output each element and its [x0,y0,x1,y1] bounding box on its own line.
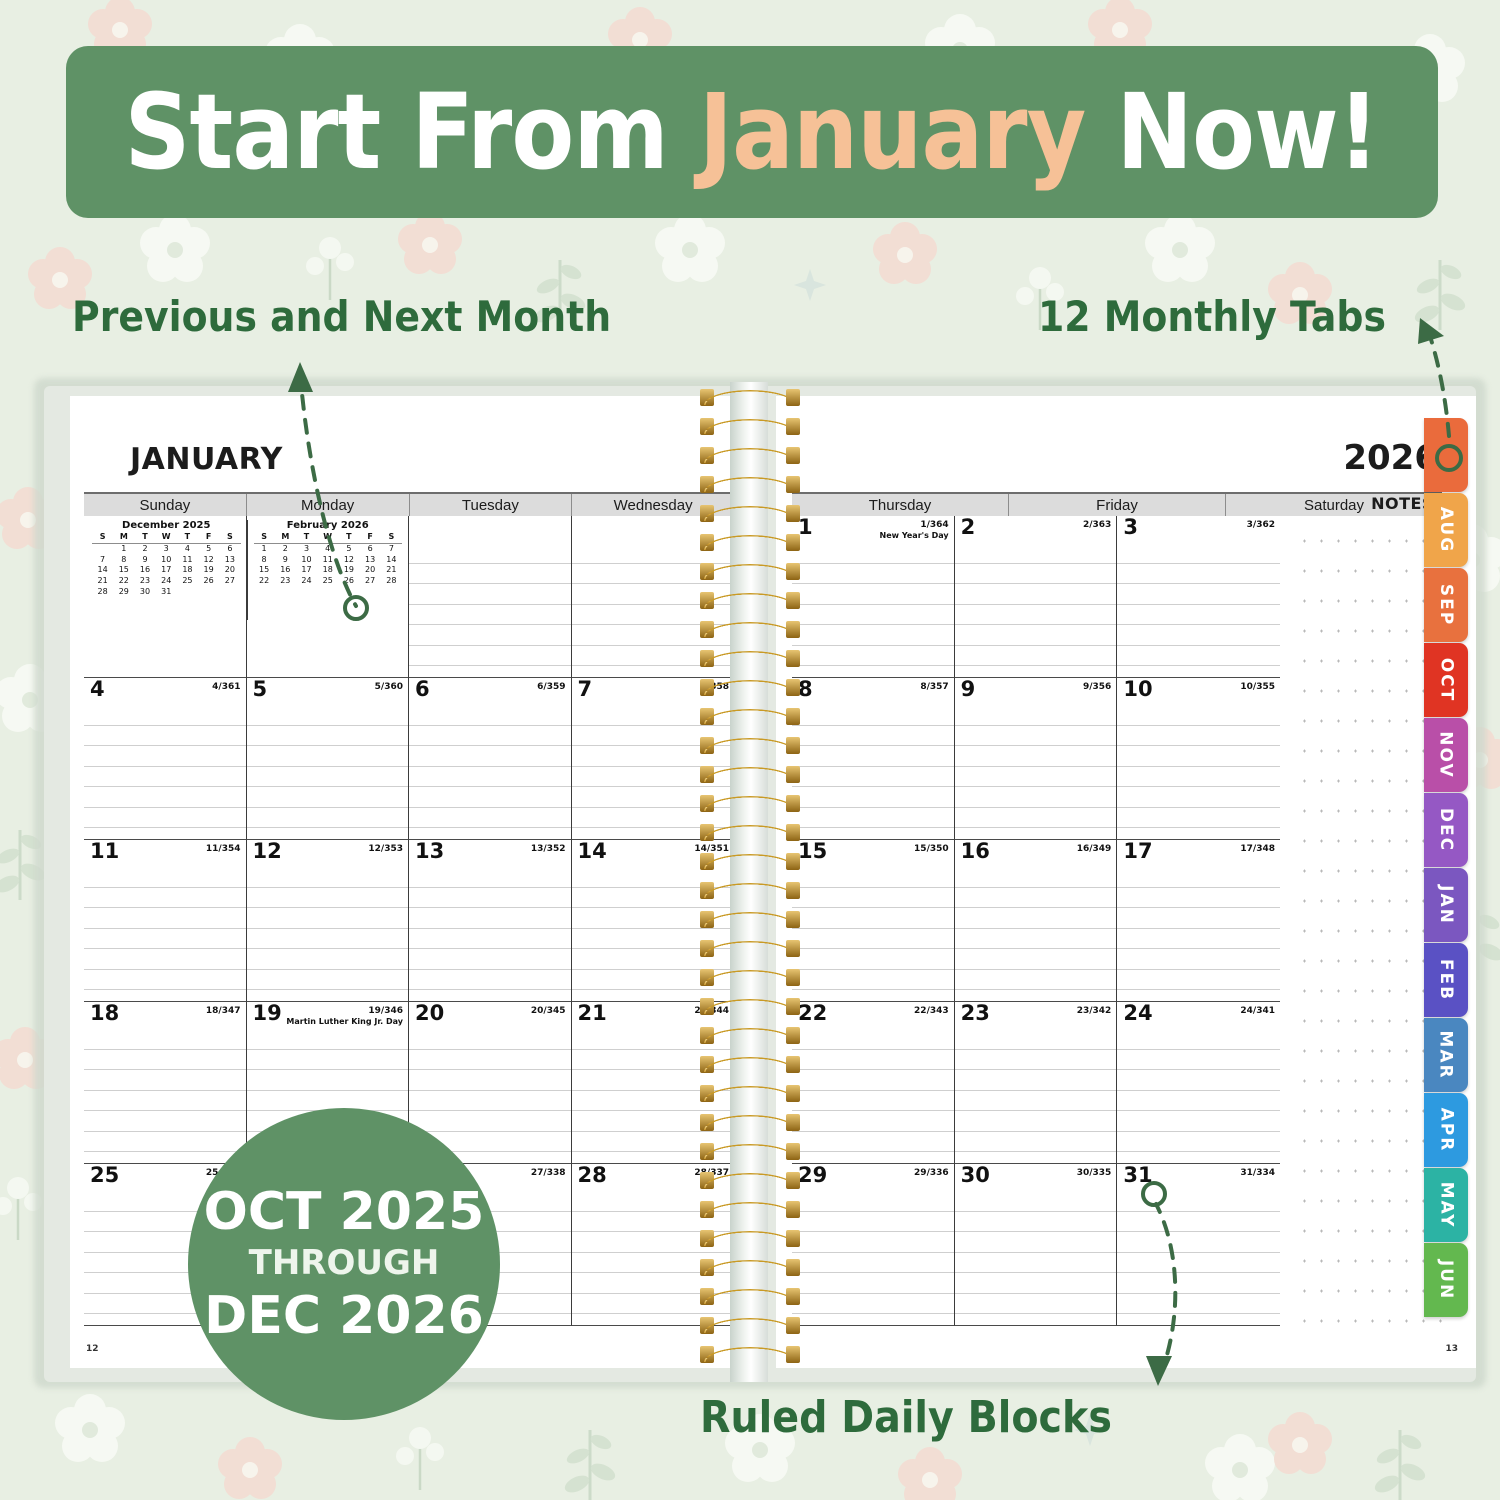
day-number: 20 [415,1003,444,1024]
day-of-year-counter: 22/343 [914,1006,949,1016]
day-of-year-counter: 20/345 [531,1006,566,1016]
coil-ring [704,448,796,463]
month-tab-mar[interactable]: MAR [1424,1018,1468,1092]
mini-weekday: F [198,532,219,543]
coil-ring [704,709,796,724]
mini-day: 23 [134,576,155,587]
coil-ring [704,883,796,898]
mini-calendar-table: SMTWTFS123456789101112131415161718192021… [254,532,403,587]
mini-week-row: 14151617181920 [92,565,241,576]
day-cell-8[interactable]: 88/357 [792,678,955,840]
weekday-header-left: SundayMondayTuesdayWednesday [84,492,734,516]
day-cell-15[interactable]: 1515/350 [792,840,955,1002]
spiral-coil [698,620,802,640]
mini-day: 15 [254,565,275,576]
coil-ring [704,1202,796,1217]
badge-line-2: THROUGH [249,1240,440,1288]
coil-ring [704,593,796,608]
month-tab-label: DEC [1436,808,1456,852]
mini-day: 6 [219,543,240,554]
spiral-coil [698,1200,802,1220]
ruled-lines [409,866,571,1001]
coil-cap-right [786,708,800,725]
month-tab-label: NOV [1436,731,1456,778]
ruled-lines [84,704,246,839]
day-number: 9 [961,679,976,700]
mini-weekday: T [296,532,317,543]
coil-ring [704,680,796,695]
mini-day: 4 [177,543,198,554]
ruled-lines [247,866,409,1001]
day-number: 11 [90,841,119,862]
day-number: 21 [578,1003,607,1024]
spiral-coil [698,910,802,930]
month-tab-jun[interactable]: JUN [1424,1243,1468,1317]
coil-cap-right [786,766,800,783]
ruled-lines [955,542,1117,677]
weekday-header-tuesday: Tuesday [410,494,573,516]
coil-cap-right [786,476,800,493]
day-number: 16 [961,841,990,862]
coil-cap-right [786,505,800,522]
month-tab-may[interactable]: MAY [1424,1168,1468,1242]
mini-day: 14 [381,555,402,566]
day-number: 25 [90,1165,119,1186]
month-tab-label: APR [1436,1108,1456,1153]
mini-day [92,543,113,554]
weekday-header-friday: Friday [1009,494,1226,516]
mini-day: 16 [275,565,296,576]
date-range-badge: OCT 2025 THROUGH DEC 2026 [188,1108,500,1420]
coil-ring [704,912,796,927]
day-cell-16[interactable]: 1616/349 [955,840,1118,1002]
day-of-year-counter: 2/363 [1083,520,1111,530]
coil-ring [704,1289,796,1304]
month-tab-label: AUG [1436,507,1456,553]
coil-ring [704,825,796,840]
day-cell-23[interactable]: 2323/342 [955,1002,1118,1164]
coil-ring [704,1318,796,1333]
month-tab-strip[interactable]: JULAUGSEPOCTNOVDECJANFEBMARAPRMAYJUN [1424,418,1472,1318]
month-tab-label: SEP [1436,584,1456,626]
page-number-right: 13 [1445,1344,1458,1354]
mini-day: 21 [381,565,402,576]
day-number: 18 [90,1003,119,1024]
mini-day: 9 [275,555,296,566]
headline-accent: January [699,71,1086,193]
spiral-coil [698,968,802,988]
coil-cap-right [786,911,800,928]
spiral-coil [698,1258,802,1278]
callout-monthly-tabs: 12 Monthly Tabs [1038,292,1386,341]
coil-cap-right [786,534,800,551]
month-tab-nov[interactable]: NOV [1424,718,1468,792]
mini-day: 20 [219,565,240,576]
mini-day: 17 [156,565,177,576]
day-cell-10[interactable]: 1010/355 [1117,678,1280,840]
holiday-label: New Year's Day [880,531,949,540]
day-of-year-counter: 12/353 [368,844,403,854]
mini-day: 16 [134,565,155,576]
mini-weekday: S [92,532,113,543]
mini-weekday: S [219,532,240,543]
day-cell-31[interactable]: 3131/334 [1117,1164,1280,1326]
mini-weekday: T [177,532,198,543]
coil-cap-right [786,1346,800,1363]
mini-day: 18 [177,565,198,576]
day-number: 24 [1123,1003,1152,1024]
mini-day: 10 [156,555,177,566]
spiral-coil [698,939,802,959]
mini-day: 29 [113,587,134,598]
spiral-binding [690,382,810,1382]
ruled-lines [955,1190,1117,1325]
coil-ring [704,854,796,869]
mini-day: 14 [92,565,113,576]
mini-calendar-next-month[interactable]: February 2026SMTWTFS12345678910111213141… [247,520,409,620]
spiral-coil [698,1084,802,1104]
coil-cap-right [786,824,800,841]
day-of-year-counter: 18/347 [206,1006,241,1016]
coil-ring [704,622,796,637]
weekday-header-right: ThursdayFridaySaturday [792,492,1442,516]
mini-day: 24 [296,576,317,587]
day-cell-22[interactable]: 2222/343 [792,1002,955,1164]
day-cell-1[interactable]: 11/364New Year's Day [792,516,955,678]
day-of-year-counter: 30/335 [1077,1168,1112,1178]
badge-line-3: DEC 2026 [204,1288,484,1344]
month-tab-oct[interactable]: OCT [1424,643,1468,717]
mini-calendar-previous-month[interactable]: December 2025SMTWTFS12345678910111213141… [86,520,247,620]
coil-cap-right [786,853,800,870]
coil-cap-right [786,563,800,580]
mini-calendar-title: February 2026 [254,520,403,531]
day-number: 14 [578,841,607,862]
mini-day [198,587,219,598]
weekday-header-monday: Monday [247,494,410,516]
coil-ring [704,564,796,579]
coil-cap-right [786,621,800,638]
day-of-year-counter: 10/355 [1240,682,1275,692]
day-of-year-counter: 8/357 [920,682,948,692]
day-cell-30[interactable]: 3030/335 [955,1164,1118,1326]
month-tab-feb[interactable]: FEB [1424,943,1468,1017]
day-number: 2 [961,517,976,538]
day-cell-2[interactable]: 22/363 [955,516,1118,678]
coil-cap-right [786,1172,800,1189]
mini-day: 4 [317,543,338,554]
coil-ring [704,999,796,1014]
day-cell-17[interactable]: 1717/348 [1117,840,1280,1002]
mini-weekday: M [113,532,134,543]
mini-day: 7 [92,555,113,566]
mini-weekday: W [156,532,177,543]
spiral-coil [698,562,802,582]
day-of-year-counter: 15/350 [914,844,949,854]
coil-cap-right [786,969,800,986]
coil-cap-right [786,998,800,1015]
mini-weekday: S [254,532,275,543]
mini-calendar-table: SMTWTFS123456789101112131415161718192021… [92,532,241,598]
day-cell-11[interactable]: 1111/354 [84,840,247,1002]
mini-calendar-title: December 2025 [92,520,241,531]
coil-cap-right [786,882,800,899]
month-tab-label: MAY [1436,1182,1456,1229]
coil-cap-right [786,1114,800,1131]
mini-week-row: 21222324252627 [92,576,241,587]
spiral-coil [698,852,802,872]
mini-day: 31 [156,587,177,598]
ruled-lines [409,704,571,839]
ruled-lines [1117,704,1280,839]
mini-day: 25 [177,576,198,587]
calendar-grid-right[interactable]: 11/364New Year's Day22/36333/36288/35799… [792,516,1280,1326]
spiral-coil [698,446,802,466]
day-number: 17 [1123,841,1152,862]
day-cell-3[interactable]: 33/362 [1117,516,1280,678]
day-of-year-counter: 5/360 [375,682,403,692]
ruled-lines [792,866,954,1001]
page-title-month: JANUARY [130,442,283,477]
day-cell-12[interactable]: 1212/353 [247,840,410,1002]
spiral-coil [698,1113,802,1133]
coil-ring [704,738,796,753]
mini-day: 25 [317,576,338,587]
badge-line-1: OCT 2025 [204,1184,485,1240]
mini-week-row: 123456 [92,543,241,554]
mini-day: 23 [275,576,296,587]
month-tab-label: JAN [1436,885,1456,925]
day-cell-5[interactable]: 55/360 [247,678,410,840]
spiral-coil [698,1055,802,1075]
coil-cap-right [786,1085,800,1102]
day-of-year-counter: 4/361 [212,682,240,692]
mini-day: 3 [156,543,177,554]
mini-day [177,587,198,598]
coil-ring [704,1144,796,1159]
day-number: 10 [1123,679,1152,700]
spiral-coil [698,475,802,495]
mini-week-row: 15161718192021 [254,565,403,576]
mini-day: 26 [338,576,359,587]
mini-day: 30 [134,587,155,598]
spiral-coil [698,881,802,901]
mini-day: 11 [317,555,338,566]
month-tab-label: JUN [1436,1260,1456,1300]
spiral-coil [698,678,802,698]
mini-day: 27 [360,576,381,587]
mini-day: 21 [92,576,113,587]
headline-part2: Now! [1086,71,1379,193]
month-tab-jan[interactable]: JAN [1424,868,1468,942]
mini-day: 22 [113,576,134,587]
coil-ring [704,767,796,782]
mini-day: 15 [113,565,134,576]
mini-day: 12 [198,555,219,566]
mini-day: 2 [275,543,296,554]
mini-day: 28 [92,587,113,598]
day-number: 6 [415,679,430,700]
callout-previous-next-month: Previous and Next Month [72,292,611,341]
ruled-lines [792,704,954,839]
coil-cap-right [786,679,800,696]
mini-day: 6 [360,543,381,554]
mini-weekday: T [338,532,359,543]
coil-cap-right [786,389,800,406]
mini-day: 28 [381,576,402,587]
day-cell-empty[interactable] [409,516,572,678]
ruled-lines [955,1028,1117,1163]
spiral-coil [698,504,802,524]
mini-day: 11 [177,555,198,566]
coil-ring [704,941,796,956]
day-of-year-counter: 27/338 [531,1168,566,1178]
day-cell-6[interactable]: 66/359 [409,678,572,840]
day-cell-29[interactable]: 2929/336 [792,1164,955,1326]
day-number: 13 [415,841,444,862]
month-tab-apr[interactable]: APR [1424,1093,1468,1167]
ruled-lines [84,1028,246,1163]
spiral-coil [698,388,802,408]
headline-banner: Start From January Now! [66,46,1438,218]
day-number: 12 [253,841,282,862]
day-number: 28 [578,1165,607,1186]
planner-page-right: 2026 ThursdayFridaySaturday NOTES 11/364… [776,396,1476,1368]
day-of-year-counter: 29/336 [914,1168,949,1178]
headline-text: Start From January Now! [125,80,1379,184]
month-tab-jul[interactable]: JUL [1424,418,1468,492]
coil-cap-right [786,795,800,812]
mini-week-row: 1234567 [254,543,403,554]
day-cell-9[interactable]: 99/356 [955,678,1118,840]
ruled-lines [409,542,571,677]
mini-day: 13 [219,555,240,566]
coil-ring [704,390,796,405]
ruled-lines [1117,866,1280,1001]
coil-ring [704,1115,796,1130]
mini-day: 5 [338,543,359,554]
day-number: 3 [1123,517,1138,538]
ruled-lines [1117,542,1280,677]
mini-week-row: 78910111213 [92,555,241,566]
spiral-coil [698,1171,802,1191]
month-tab-aug[interactable]: AUG [1424,493,1468,567]
day-of-year-counter: 13/352 [531,844,566,854]
day-of-year-counter: 11/354 [206,844,241,854]
day-cell-24[interactable]: 2424/341 [1117,1002,1280,1164]
spiral-coil [698,1316,802,1336]
spiral-coil [698,765,802,785]
mini-day: 24 [156,576,177,587]
ruled-lines [1117,1028,1280,1163]
day-number: 23 [961,1003,990,1024]
mini-weekday: M [275,532,296,543]
coil-cap-right [786,650,800,667]
day-cell-4[interactable]: 44/361 [84,678,247,840]
spiral-coil [698,823,802,843]
mini-day: 8 [254,555,275,566]
spiral-coil [698,794,802,814]
coil-ring [704,535,796,550]
headline-part1: Start From [125,71,699,193]
mini-week-row: 22232425262728 [254,576,403,587]
weekday-header-thursday: Thursday [792,494,1009,516]
mini-day: 19 [338,565,359,576]
day-of-year-counter: 9/356 [1083,682,1111,692]
day-of-year-counter: 23/342 [1077,1006,1112,1016]
coil-ring [704,1260,796,1275]
mini-day: 17 [296,565,317,576]
coil-ring [704,1057,796,1072]
mini-day: 22 [254,576,275,587]
month-tab-label: OCT [1436,658,1456,703]
spiral-coil [698,533,802,553]
mini-weekday: T [134,532,155,543]
spiral-coil [698,1345,802,1365]
coil-ring [704,1231,796,1246]
day-of-year-counter: 6/359 [537,682,565,692]
callout-ruled-daily-blocks: Ruled Daily Blocks [700,1392,1112,1443]
coil-cap-right [786,1288,800,1305]
month-tab-sep[interactable]: SEP [1424,568,1468,642]
ruled-lines [1117,1190,1280,1325]
mini-week-row: 891011121314 [254,555,403,566]
coil-ring [704,651,796,666]
ruled-lines [247,704,409,839]
day-of-year-counter: 17/348 [1240,844,1275,854]
coil-ring [704,506,796,521]
spiral-coil [698,707,802,727]
mini-day: 8 [113,555,134,566]
day-cell-13[interactable]: 1313/352 [409,840,572,1002]
coil-cap-right [786,940,800,957]
weekday-header-sunday: Sunday [84,494,247,516]
day-number: 19 [253,1003,282,1024]
day-cell-18[interactable]: 1818/347 [84,1002,247,1164]
mini-day: 12 [338,555,359,566]
coil-ring [704,419,796,434]
month-tab-dec[interactable]: DEC [1424,793,1468,867]
coil-cap-right [786,418,800,435]
mini-month-calendars: December 2025SMTWTFS12345678910111213141… [86,520,408,620]
coil-ring [704,1347,796,1362]
coil-cap-right [786,1201,800,1218]
spiral-coil [698,1229,802,1249]
coil-ring [704,970,796,985]
day-number: 5 [253,679,268,700]
day-number: 4 [90,679,105,700]
mini-week-row: 28293031 [92,587,241,598]
coil-ring [704,477,796,492]
coil-cap-right [786,1230,800,1247]
coil-cap-right [786,1317,800,1334]
spiral-coil [698,1142,802,1162]
month-tab-label: FEB [1436,959,1456,1001]
mini-weekday: S [381,532,402,543]
ruled-lines [84,866,246,1001]
mini-day: 9 [134,555,155,566]
holiday-label: Martin Luther King Jr. Day [286,1017,403,1026]
spiral-coil [698,736,802,756]
coil-ring [704,1173,796,1188]
mini-weekday: F [360,532,381,543]
day-of-year-counter: 16/349 [1077,844,1112,854]
day-of-year-counter: 3/362 [1247,520,1275,530]
mini-day: 3 [296,543,317,554]
day-number: 30 [961,1165,990,1186]
mini-day: 1 [254,543,275,554]
coil-cap-right [786,737,800,754]
